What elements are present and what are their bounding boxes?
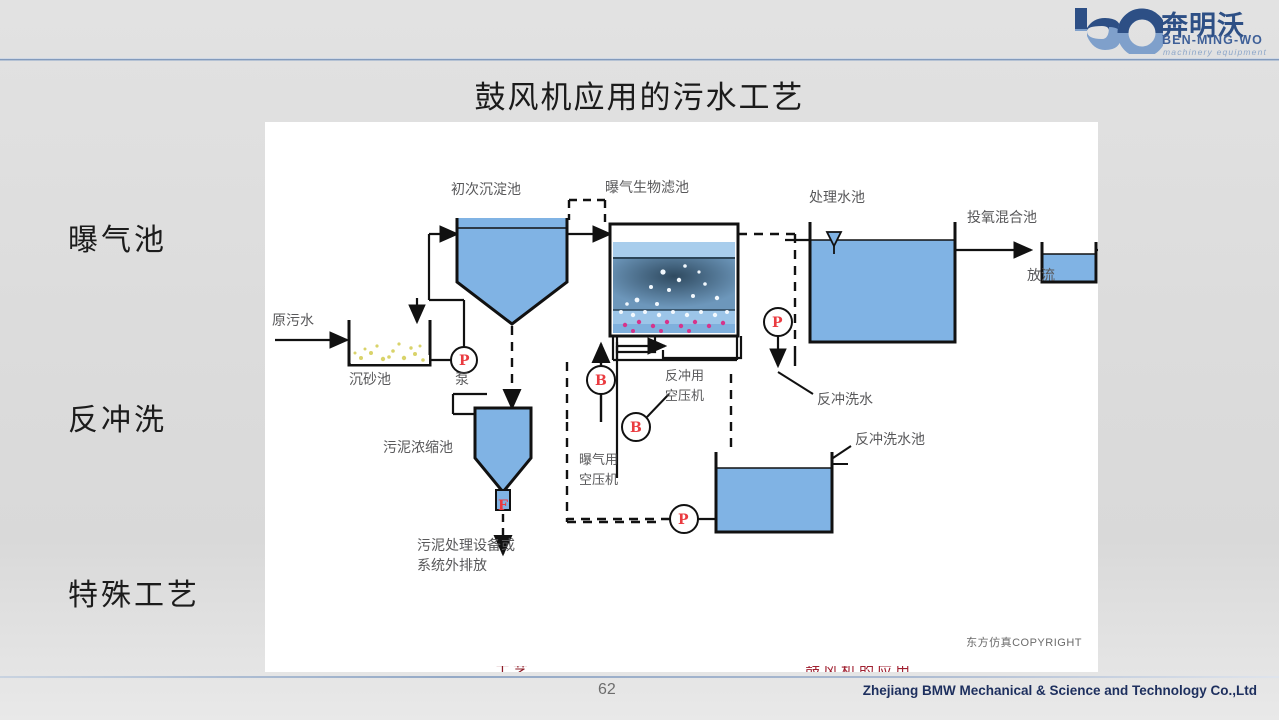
- footer-company-name: Zhejiang BMW Mechanical & Science and Te…: [863, 683, 1257, 698]
- primary-settling-tank: 初次沉淀池: [451, 181, 610, 408]
- company-logo: 奔明沃 BEN-MING-WO machinery equipment: [1069, 2, 1269, 58]
- logo-english-name: BEN-MING-WO: [1162, 33, 1263, 47]
- label-backwash-compressor-1: 反冲用: [665, 369, 704, 384]
- pump-symbol-letter-feed: P: [678, 512, 689, 528]
- sidebar-item-special-process[interactable]: 特殊工艺: [68, 570, 200, 614]
- label-backwash-water-tank: 反冲洗水池: [855, 432, 925, 448]
- pump-symbol-letter: P: [459, 353, 470, 369]
- biofilter-outlet-line: [738, 234, 795, 366]
- header-divider: [0, 58, 1279, 61]
- label-sludge-disposal-2: 系统外排放: [417, 558, 487, 574]
- label-raw-sewage: 原污水: [272, 313, 314, 329]
- page-number: 62: [598, 681, 616, 699]
- label-aeration-compressor-2: 空压机: [579, 473, 618, 488]
- logo-tagline: machinery equipment: [1163, 47, 1267, 57]
- settling-dashed-riser: [569, 200, 605, 222]
- label-sludge-thickener: 污泥浓缩池: [383, 440, 453, 456]
- grit-chamber: 沉砂池: [349, 298, 430, 388]
- label-backwash-water: 反冲洗水: [817, 392, 873, 408]
- logo-bo-mark: [1071, 6, 1163, 54]
- diagram-watermark: 东方仿真COPYRIGHT: [966, 634, 1082, 650]
- flow-diagram-svg: 原污水 沉砂池 P 泵: [265, 122, 1098, 672]
- sidebar-item-backwash[interactable]: 反冲洗: [68, 395, 167, 439]
- process-flow-diagram: 原污水 沉砂池 P 泵: [265, 122, 1098, 672]
- raw-sewage-inlet: 原污水: [272, 313, 347, 340]
- cut-text-right: 鼓风机的应用: [805, 666, 913, 672]
- aerated-biofilter: 曝气生物滤池: [605, 180, 738, 336]
- label-grit-chamber: 沉砂池: [349, 372, 391, 388]
- label-oxygen-dosing-tank: 投氧混合池: [967, 210, 1037, 226]
- blower-symbol-letter-backwash: B: [630, 420, 642, 436]
- backwash-blower: B 反冲用 空压机: [622, 369, 704, 441]
- label-discharge: 放流: [1027, 268, 1055, 284]
- backwash-water-tank: 反冲洗水池: [716, 432, 925, 532]
- sludge-thickener: F 污泥浓缩池: [383, 394, 531, 554]
- label-primary-settling-tank: 初次沉淀池: [451, 181, 521, 198]
- cut-off-text-strip: 工艺 鼓风机的应用: [265, 666, 1098, 672]
- label-aerated-biofilter: 曝气生物滤池: [605, 180, 689, 196]
- sidebar-item-aeration-tank[interactable]: 曝气池: [68, 215, 167, 259]
- footer-divider: [0, 676, 1279, 678]
- label-backwash-compressor-2: 空压机: [665, 389, 704, 404]
- cut-text-left: 工艺: [495, 666, 531, 672]
- oxygen-dosing-tank: 投氧混合池 放流: [967, 210, 1098, 284]
- label-aeration-compressor-1: 曝气用: [579, 452, 618, 468]
- pump-symbol-letter-backwash: P: [772, 315, 783, 331]
- page-title: 鼓风机应用的污水工艺: [0, 72, 1279, 117]
- label-treated-water-tank: 处理水池: [809, 190, 865, 206]
- label-pump: 泵: [455, 372, 469, 388]
- flow-symbol-sludge: F: [498, 498, 508, 514]
- blower-symbol-letter-aeration: B: [595, 373, 607, 389]
- label-sludge-disposal-1: 污泥处理设备或: [417, 537, 515, 554]
- sludge-disposal-note: 污泥处理设备或 系统外排放: [417, 537, 515, 574]
